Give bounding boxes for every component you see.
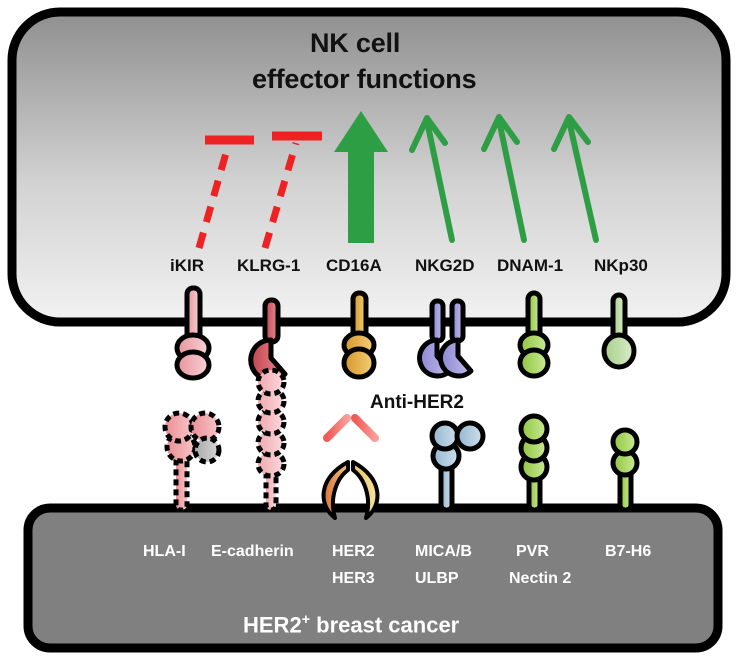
nk-title-line1: NK cell [310,28,400,59]
ligand-hla-i [165,413,219,510]
anti-her2-antibody [327,382,375,438]
ligand-label-her2: HER2 [332,543,375,561]
ligand-label-mica-b: MICA/B [415,543,472,561]
ligand-label-ulbp: ULBP [415,570,459,588]
ligand-b7-h6 [613,430,637,510]
tumor-cell-label: HER2+ breast cancer [243,612,459,638]
tumor-cell-label-main: HER2 [243,612,302,637]
receptor-label-nkp30: NKp30 [594,256,648,276]
nk-title-line2: effector functions [252,64,476,95]
receptor-label-nkg2d: NKG2D [415,256,475,276]
receptor-label-dnam1: DNAM-1 [497,256,563,276]
ligand-pvr-nectin2 [521,416,547,510]
receptor-label-ikir: iKIR [170,256,204,276]
ligand-e-cadherin [258,370,284,510]
ligand-label-nectin2: Nectin 2 [509,570,571,588]
ligand-label-e-cadherin: E-cadherin [211,543,294,561]
ligand-label-hla-i: HLA-I [143,543,186,561]
ligand-label-her3: HER3 [332,570,375,588]
receptor-label-cd16a: CD16A [326,256,382,276]
figure-canvas: NK cell effector functions iKIR KLRG-1 C… [0,0,746,656]
ligand-label-b7-h6: B7-H6 [605,543,651,561]
receptor-label-klrg1: KLRG-1 [237,256,300,276]
ligand-mica-b-ulbp [432,423,483,510]
tumor-cell-label-superscript: + [302,612,310,628]
anti-her2-label: Anti-HER2 [370,392,464,414]
tumor-cell-label-rest: breast cancer [310,612,459,637]
ligand-label-pvr: PVR [516,543,549,561]
